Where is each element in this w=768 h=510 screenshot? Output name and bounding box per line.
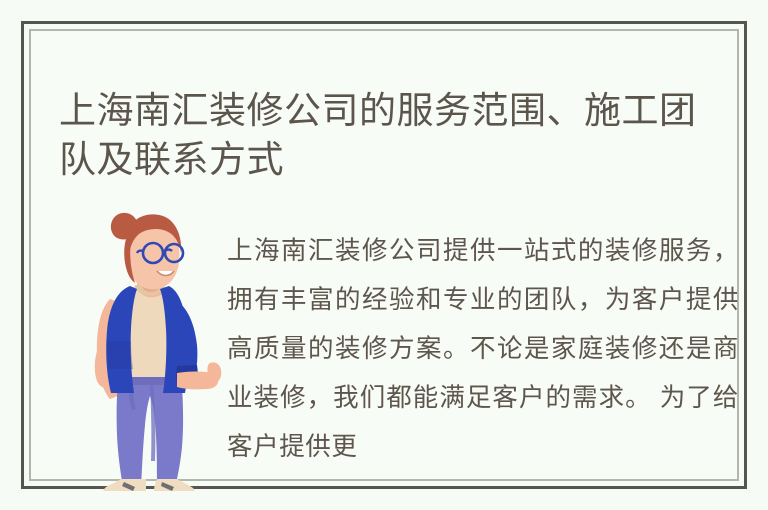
- article-inner-frame: 上海南汇装修公司的服务范围、施工团 队及联系方式: [29, 29, 739, 481]
- person-presenting-illustration: [77, 191, 227, 491]
- article-body-block: 上海南汇装修公司提供一站式的装修服务，拥有丰富的经验和专业的团队，为客户提供高质…: [31, 179, 737, 479]
- article-body-text: 上海南汇装修公司提供一站式的装修服务，拥有丰富的经验和专业的团队，为客户提供高质…: [227, 227, 739, 472]
- article-card: 上海南汇装修公司的服务范围、施工团 队及联系方式: [21, 21, 747, 489]
- page-title: 上海南汇装修公司的服务范围、施工团 队及联系方式: [59, 86, 709, 184]
